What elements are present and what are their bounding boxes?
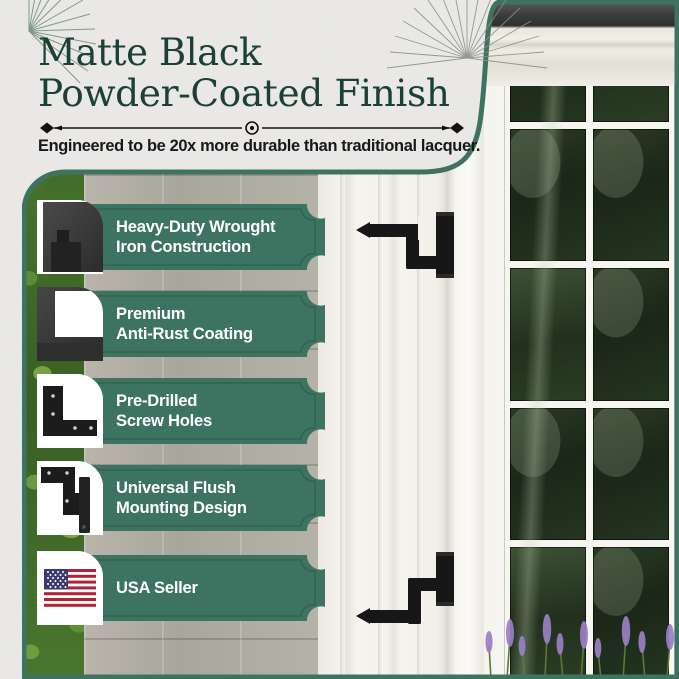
feature-label-line-1: Pre-Drilled [116, 391, 316, 412]
black-shutter-hinge [352, 540, 472, 640]
feature-badge[interactable]: Pre-Drilled Screw Holes [37, 374, 325, 448]
window-pane [510, 408, 586, 540]
feature-label-line-1: Universal Flush [116, 478, 316, 499]
feature-label-line-2: Anti-Rust Coating [116, 324, 316, 345]
window-pane [510, 547, 586, 679]
usa-flag-icon [37, 551, 103, 625]
decorative-divider [38, 120, 466, 136]
feature-thumbnail [37, 200, 103, 274]
anti-rust-coating-photo [37, 287, 103, 361]
feature-thumbnail [37, 374, 103, 448]
feature-label-line-1: Heavy-Duty Wrought [116, 217, 316, 238]
feature-thumbnail [37, 287, 103, 361]
feature-badge[interactable]: Premium Anti-Rust Coating [37, 287, 325, 361]
feature-label: Heavy-Duty Wrought Iron Construction [116, 200, 316, 274]
feature-badge[interactable]: Universal Flush Mounting Design [37, 461, 325, 535]
window-pane [593, 408, 669, 540]
infographic-page: Matte Black Powder-Coated Finish Enginee… [0, 0, 679, 679]
feature-label-line-2: Screw Holes [116, 411, 316, 432]
window-pane [593, 268, 669, 400]
window-pane [510, 268, 586, 400]
feature-label: Universal Flush Mounting Design [116, 461, 316, 535]
feature-label-line-2: Iron Construction [116, 237, 316, 258]
feature-label-line-1: Premium [116, 304, 316, 325]
window-pane [593, 547, 669, 679]
feature-label-line-2: Mounting Design [116, 498, 316, 519]
wrought-iron-hinge-photo [37, 200, 103, 274]
feature-badge[interactable]: USA Seller [37, 551, 325, 625]
headline-line-1: Matte Black [38, 32, 538, 73]
feature-label: USA Seller [116, 551, 316, 625]
feature-thumbnail [37, 551, 103, 625]
header-block: Matte Black Powder-Coated Finish Enginee… [0, 0, 679, 170]
feature-badge[interactable]: Heavy-Duty Wrought Iron Construction [37, 200, 325, 274]
pre-drilled-screw-holes-photo [37, 374, 103, 448]
feature-label-line-1: USA Seller [116, 578, 316, 599]
title-block: Matte Black Powder-Coated Finish [38, 32, 538, 114]
headline-line-2: Powder-Coated Finish [38, 73, 538, 114]
black-shutter-hinge [352, 200, 472, 300]
feature-label: Premium Anti-Rust Coating [116, 287, 316, 361]
feature-label: Pre-Drilled Screw Holes [116, 374, 316, 448]
feature-thumbnail [37, 461, 103, 535]
subtitle: Engineered to be 20x more durable than t… [38, 137, 480, 156]
flush-mount-hinge-photo [37, 461, 103, 535]
